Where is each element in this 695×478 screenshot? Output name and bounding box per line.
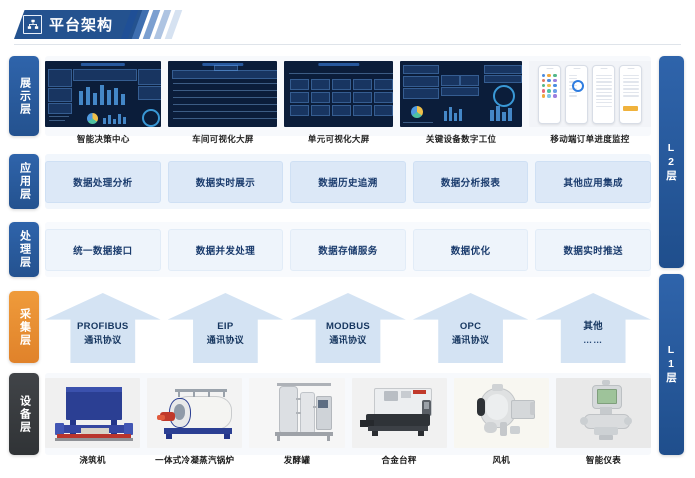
header-divider [14, 44, 681, 45]
display-item-unit-screen[interactable]: 单元可视化大屏 [284, 61, 393, 145]
protocol-arrow-eip[interactable]: EIP 通讯协议 [168, 293, 284, 363]
protocol-arrow-other[interactable]: 其他 …… [535, 293, 651, 363]
layer-tab-processing[interactable]: 处理层 [9, 222, 39, 277]
architecture-diagram: 展示层 应用层 处理层 采集层 设备层 L2层 L1层 [0, 48, 695, 478]
layer-tab-device[interactable]: 设备层 [9, 373, 39, 455]
display-item-caption: 智能决策中心 [77, 133, 130, 145]
display-item-caption: 单元可视化大屏 [308, 133, 370, 145]
device-caption: 一体式冷凝蒸汽锅炉 [155, 454, 234, 466]
processing-card-label: 数据实时推送 [563, 243, 622, 257]
page-header: 平台架构 [0, 0, 695, 50]
protocol-sub: …… [535, 334, 651, 347]
protocol-name: PROFIBUS [45, 320, 161, 334]
processing-card-label: 数据并发处理 [196, 243, 255, 257]
display-item-caption: 车间可视化大屏 [192, 133, 254, 145]
processing-card-label: 统一数据接口 [73, 243, 132, 257]
device-caption: 合金台秤 [382, 454, 417, 466]
device-item-smart-instrument[interactable]: 智能仪表 [556, 378, 651, 466]
application-card-label: 数据处理分析 [73, 175, 132, 189]
protocol-arrow-modbus[interactable]: MODBUS 通讯协议 [290, 293, 406, 363]
device-image-steam-boiler [147, 378, 242, 448]
phone-mockup-chart [565, 65, 588, 124]
processing-card-optimization[interactable]: 数据优化 [413, 229, 529, 271]
display-item-caption: 关键设备数字工位 [426, 133, 496, 145]
display-item-decision-center[interactable]: 智能决策中心 [45, 61, 161, 145]
protocol-sub: 通讯协议 [45, 334, 161, 347]
application-card-other-integration[interactable]: 其他应用集成 [535, 161, 651, 203]
phone-mockup-list [592, 65, 615, 124]
right-bar-l2[interactable]: L2层 [659, 56, 684, 268]
processing-card-label: 数据优化 [451, 243, 491, 257]
layer-tab-display-label: 展示层 [19, 77, 30, 116]
application-card-label: 其他应用集成 [563, 175, 622, 189]
device-item-fermentation-tank[interactable]: 发酵罐 [249, 378, 344, 466]
layer-tab-collection[interactable]: 采集层 [9, 291, 39, 363]
processing-card-storage-service[interactable]: 数据存储服务 [290, 229, 406, 271]
hierarchy-icon [23, 15, 42, 34]
protocol-sub: 通讯协议 [413, 334, 529, 347]
display-item-mobile-order-monitor[interactable]: 移动端订单进度监控 [529, 61, 651, 145]
protocol-sub: 通讯协议 [168, 334, 284, 347]
layer-tab-processing-label: 处理层 [19, 230, 30, 269]
display-item-workshop-screen[interactable]: 车间可视化大屏 [168, 61, 277, 145]
phone-mockups[interactable] [529, 61, 651, 127]
application-card-realtime-display[interactable]: 数据实时展示 [168, 161, 284, 203]
protocol-sub: 通讯协议 [290, 334, 406, 347]
device-item-steam-boiler[interactable]: 一体式冷凝蒸汽锅炉 [147, 378, 242, 466]
phone-mockup-apps [538, 65, 561, 124]
application-card-label: 数据实时展示 [196, 175, 255, 189]
protocol-name: EIP [168, 320, 284, 334]
device-image-alloy-scale [352, 378, 447, 448]
display-layer-row: 智能决策中心 车间可视化大屏 [45, 61, 651, 145]
right-bar-l1-label: L1层 [664, 344, 679, 385]
device-item-blower-fan[interactable]: 风机 [454, 378, 549, 466]
dashboard-thumbnail-equipment-station[interactable] [400, 61, 522, 127]
right-bar-l1[interactable]: L1层 [659, 274, 684, 455]
display-item-caption: 移动端订单进度监控 [550, 133, 629, 145]
layer-tab-application-label: 应用层 [19, 162, 30, 201]
device-item-casting-machine[interactable]: 浇筑机 [45, 378, 140, 466]
collection-layer-row: PROFIBUS 通讯协议 EIP 通讯协议 MODBUS 通讯协议 OPC 通… [45, 293, 651, 363]
processing-card-realtime-push[interactable]: 数据实时推送 [535, 229, 651, 271]
device-caption: 智能仪表 [586, 454, 621, 466]
dashboard-thumbnail-decision-center[interactable] [45, 61, 161, 127]
device-item-alloy-scale[interactable]: 合金台秤 [352, 378, 447, 466]
page-title: 平台架构 [49, 14, 113, 35]
phone-mockup-detail [619, 65, 642, 124]
device-image-smart-instrument [556, 378, 651, 448]
layer-tab-application[interactable]: 应用层 [9, 154, 39, 209]
processing-card-unified-interface[interactable]: 统一数据接口 [45, 229, 161, 271]
right-bar-l2-label: L2层 [664, 142, 679, 183]
processing-card-label: 数据存储服务 [318, 243, 377, 257]
protocol-arrow-profibus[interactable]: PROFIBUS 通讯协议 [45, 293, 161, 363]
application-card-data-processing[interactable]: 数据处理分析 [45, 161, 161, 203]
layer-tab-collection-label: 采集层 [19, 308, 30, 347]
processing-card-concurrent-processing[interactable]: 数据并发处理 [168, 229, 284, 271]
protocol-name: MODBUS [290, 320, 406, 334]
application-card-label: 数据历史追溯 [318, 175, 377, 189]
device-caption: 风机 [492, 454, 510, 466]
layer-tab-display[interactable]: 展示层 [9, 56, 39, 136]
dashboard-thumbnail-unit-screen[interactable] [284, 61, 393, 127]
protocol-name: OPC [413, 320, 529, 334]
application-card-label: 数据分析报表 [441, 175, 500, 189]
display-item-equipment-station[interactable]: 关键设备数字工位 [400, 61, 522, 145]
device-image-fermentation-tank [249, 378, 344, 448]
protocol-name: 其他 [535, 320, 651, 334]
protocol-arrow-opc[interactable]: OPC 通讯协议 [413, 293, 529, 363]
device-layer-row: 浇筑机 一体式冷凝蒸汽锅炉 [45, 378, 651, 466]
application-layer-row: 数据处理分析 数据实时展示 数据历史追溯 数据分析报表 其他应用集成 [45, 161, 651, 203]
layer-tab-device-label: 设备层 [19, 395, 30, 434]
device-image-blower-fan [454, 378, 549, 448]
dashboard-thumbnail-workshop-screen[interactable] [168, 61, 277, 127]
device-image-casting-machine [45, 378, 140, 448]
application-card-analysis-report[interactable]: 数据分析报表 [413, 161, 529, 203]
application-card-history-trace[interactable]: 数据历史追溯 [290, 161, 406, 203]
device-caption: 浇筑机 [79, 454, 105, 466]
processing-layer-row: 统一数据接口 数据并发处理 数据存储服务 数据优化 数据实时推送 [45, 229, 651, 271]
device-caption: 发酵罐 [284, 454, 310, 466]
